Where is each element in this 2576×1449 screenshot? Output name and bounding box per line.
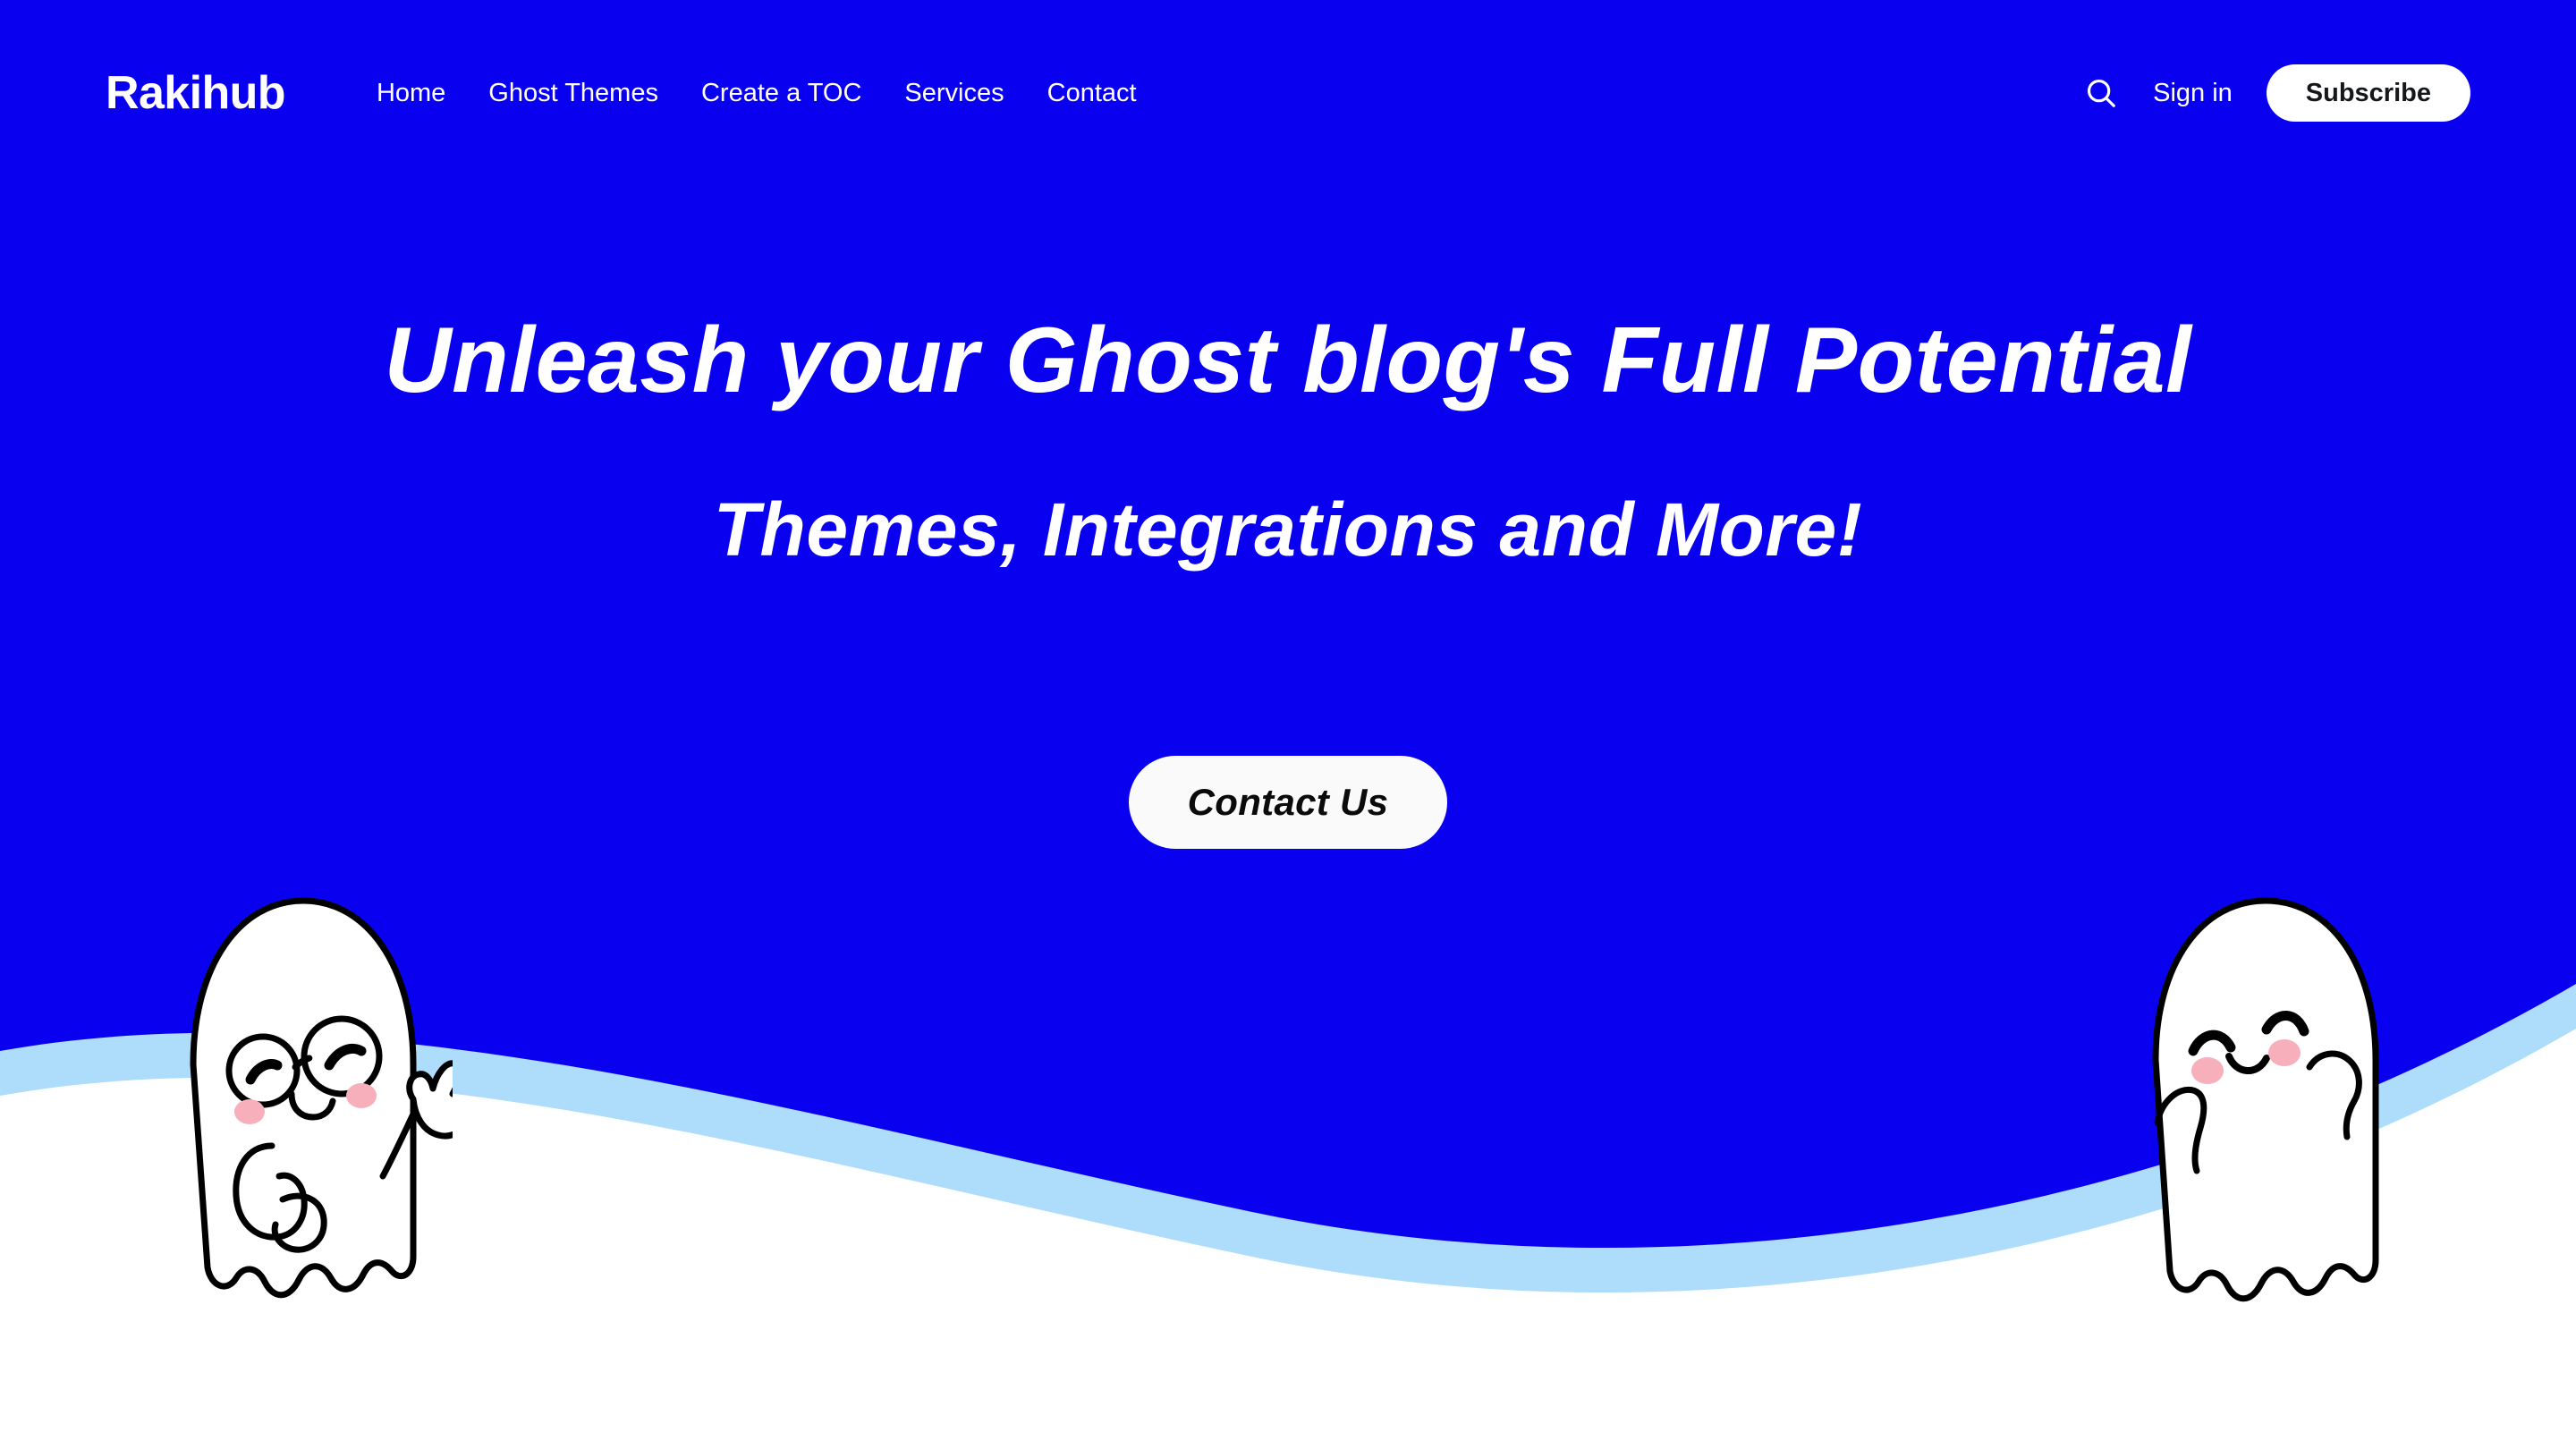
search-button[interactable] (2074, 66, 2128, 120)
ghost-right-body (2156, 901, 2376, 1299)
site-header: Rakihub Home Ghost Themes Create a TOC S… (0, 0, 2576, 179)
sign-in-link[interactable]: Sign in (2153, 80, 2233, 106)
hero-cta-container: Contact Us (0, 756, 2576, 849)
main-navigation: Home Ghost Themes Create a TOC Services … (355, 72, 1158, 115)
site-logo[interactable]: Rakihub (106, 70, 285, 116)
nav-item-services[interactable]: Services (883, 72, 1025, 115)
contact-us-button[interactable]: Contact Us (1129, 756, 1448, 849)
nav-item-contact[interactable]: Contact (1026, 72, 1158, 115)
ghost-with-glasses-waving-icon (157, 881, 453, 1346)
ghost-left-body (193, 901, 413, 1295)
ghost-right-cheek-left (2191, 1057, 2224, 1084)
nav-item-ghost-themes[interactable]: Ghost Themes (467, 72, 680, 115)
ghost-left-cheek-right (346, 1083, 377, 1108)
search-icon (2084, 76, 2118, 110)
ghost-left-cheek-left (234, 1099, 265, 1124)
header-inner: Rakihub Home Ghost Themes Create a TOC S… (0, 0, 2576, 179)
subscribe-button[interactable]: Subscribe (2267, 64, 2470, 122)
nav-item-home[interactable]: Home (355, 72, 467, 115)
header-actions: Sign in Subscribe (2074, 64, 2470, 122)
landing-page: Rakihub Home Ghost Themes Create a TOC S… (0, 0, 2576, 1449)
ghost-right-cheek-right (2268, 1039, 2301, 1066)
ghost-smiling-icon (2118, 881, 2413, 1346)
nav-item-create-a-toc[interactable]: Create a TOC (680, 72, 883, 115)
